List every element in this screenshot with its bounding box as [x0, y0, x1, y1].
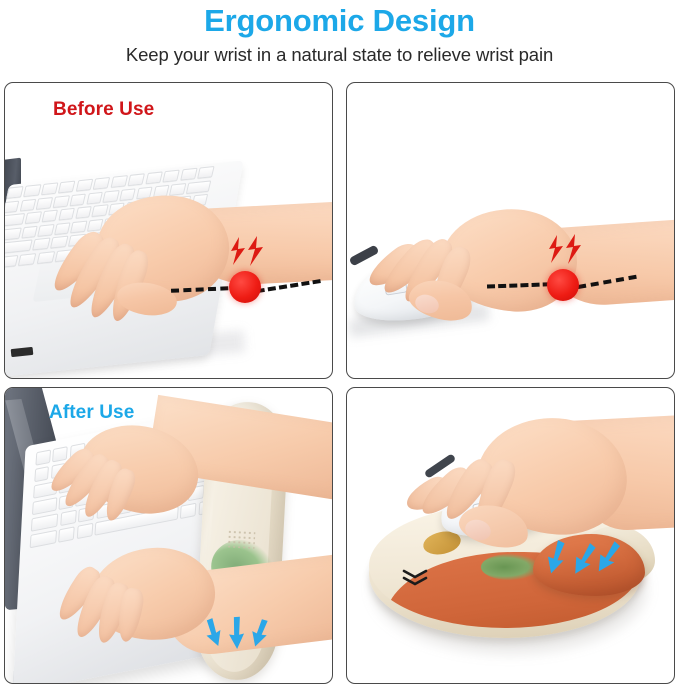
panel-label-after: After Use — [49, 402, 134, 424]
pain-dot — [229, 271, 261, 303]
page-subtitle: Keep your wrist in a natural state to re… — [0, 43, 679, 67]
relief-arrows — [545, 538, 623, 584]
scene-after-keyboard — [5, 388, 332, 683]
mousepad-leaf-pattern — [481, 554, 539, 580]
panel-after-keyboard: After Use — [4, 387, 333, 684]
wrist-rest-texture-mid — [227, 529, 256, 548]
panel-before-keyboard: Before Use — [4, 82, 333, 379]
mouse-cable — [349, 244, 380, 266]
scene-before-mouse — [347, 83, 674, 378]
header: Ergonomic Design Keep your wrist in a na… — [0, 0, 679, 76]
panel-before-mouse — [346, 82, 675, 379]
relief-arrows-lower — [203, 616, 275, 656]
pain-dot — [547, 269, 579, 301]
scene-before-keyboard — [5, 83, 332, 378]
infographic-page: Ergonomic Design Keep your wrist in a na… — [0, 0, 679, 689]
scene-after-mouse — [347, 388, 674, 683]
panel-grid: Before Use — [4, 82, 675, 684]
mousepad-chevron-mark — [401, 568, 431, 597]
page-title: Ergonomic Design — [0, 2, 679, 40]
panel-label-before: Before Use — [53, 99, 154, 121]
panel-after-mouse — [346, 387, 675, 684]
